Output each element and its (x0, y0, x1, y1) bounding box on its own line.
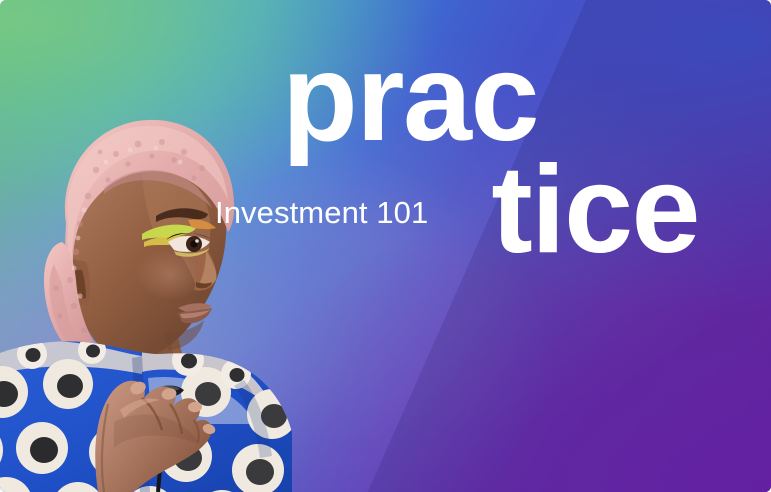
banner-subtitle: Investment 101 (215, 195, 428, 231)
headline-line-2: tice (491, 148, 699, 272)
person-portrait (0, 92, 322, 492)
practice-course-banner[interactable]: prac Investment 101 tice (0, 0, 771, 492)
